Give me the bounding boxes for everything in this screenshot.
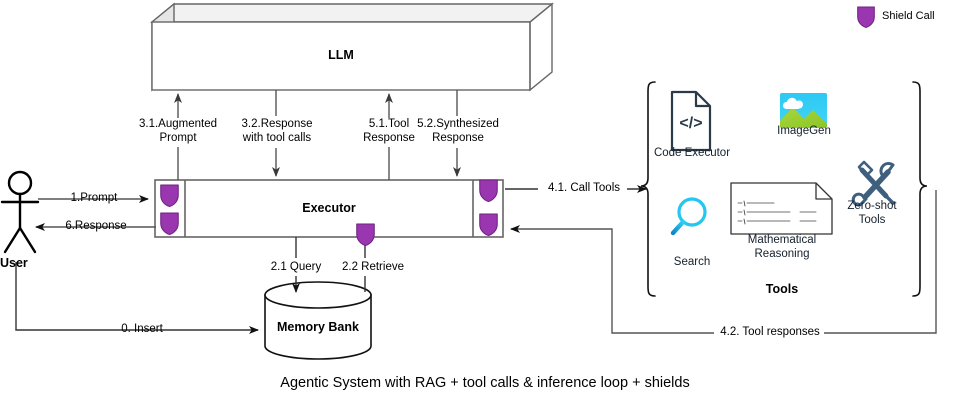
llm-label: LLM bbox=[152, 48, 530, 62]
shield-icon-memory-retrieve[interactable] bbox=[357, 224, 375, 246]
diagram-caption: Agentic System with RAG + tool calls & i… bbox=[0, 375, 970, 391]
svg-text:</>: </> bbox=[679, 115, 702, 132]
edge-label-3-2: 3.2.Response with tool calls bbox=[222, 118, 332, 145]
edge-label-3-1: 3.1.Augmented Prompt bbox=[124, 118, 232, 145]
tool-label-search: Search bbox=[658, 256, 726, 270]
llm-node[interactable] bbox=[152, 4, 552, 90]
tool-label-code-executor: Code Executor bbox=[646, 147, 738, 161]
llm-top-face bbox=[152, 4, 552, 22]
diagram-canvas: </> bbox=[0, 0, 970, 411]
edge-0-insert bbox=[16, 262, 258, 330]
shield-icon-legend bbox=[858, 7, 875, 28]
edge-label-4-1-call-tools: 4.1. Call Tools bbox=[536, 182, 632, 196]
legend-label: Shield Call bbox=[882, 10, 935, 22]
wrench-screwdriver-icon[interactable] bbox=[853, 162, 893, 205]
user-leg-left bbox=[5, 228, 20, 252]
tools-group-label: Tools bbox=[730, 283, 834, 297]
user-label: User bbox=[0, 256, 42, 270]
cylinder-top bbox=[265, 282, 371, 308]
code-document-icon[interactable]: </> bbox=[672, 92, 710, 150]
edge-label-5-2: 5.2.Synthesized Response bbox=[402, 118, 514, 145]
image-picture-icon[interactable] bbox=[780, 93, 827, 128]
memory-bank-label: Memory Bank bbox=[265, 320, 371, 334]
edge-label-1-prompt: 1.Prompt bbox=[48, 192, 140, 206]
edge-label-2-2-retrieve: 2.2 Retrieve bbox=[330, 261, 416, 275]
magnifier-icon[interactable] bbox=[673, 199, 705, 233]
user-actor[interactable] bbox=[2, 172, 38, 252]
edge-label-4-2-tool-responses: 4.2. Tool responses bbox=[714, 326, 826, 340]
formula-document-icon[interactable] bbox=[731, 183, 832, 234]
edge-label-6-response: 6.Response bbox=[46, 220, 146, 234]
executor-label: Executor bbox=[185, 201, 473, 215]
tool-label-mathematical-reasoning: Mathematical Reasoning bbox=[730, 234, 834, 261]
tool-label-zero-shot-tools: Zero-shot Tools bbox=[838, 200, 906, 227]
edge-label-0-insert: 0. Insert bbox=[96, 323, 188, 337]
user-leg-right bbox=[20, 228, 35, 252]
edge-label-2-1-query: 2.1 Query bbox=[258, 261, 334, 275]
tools-right-brace bbox=[913, 82, 927, 296]
tool-label-imagegen: ImageGen bbox=[762, 125, 846, 139]
user-head bbox=[9, 172, 31, 194]
